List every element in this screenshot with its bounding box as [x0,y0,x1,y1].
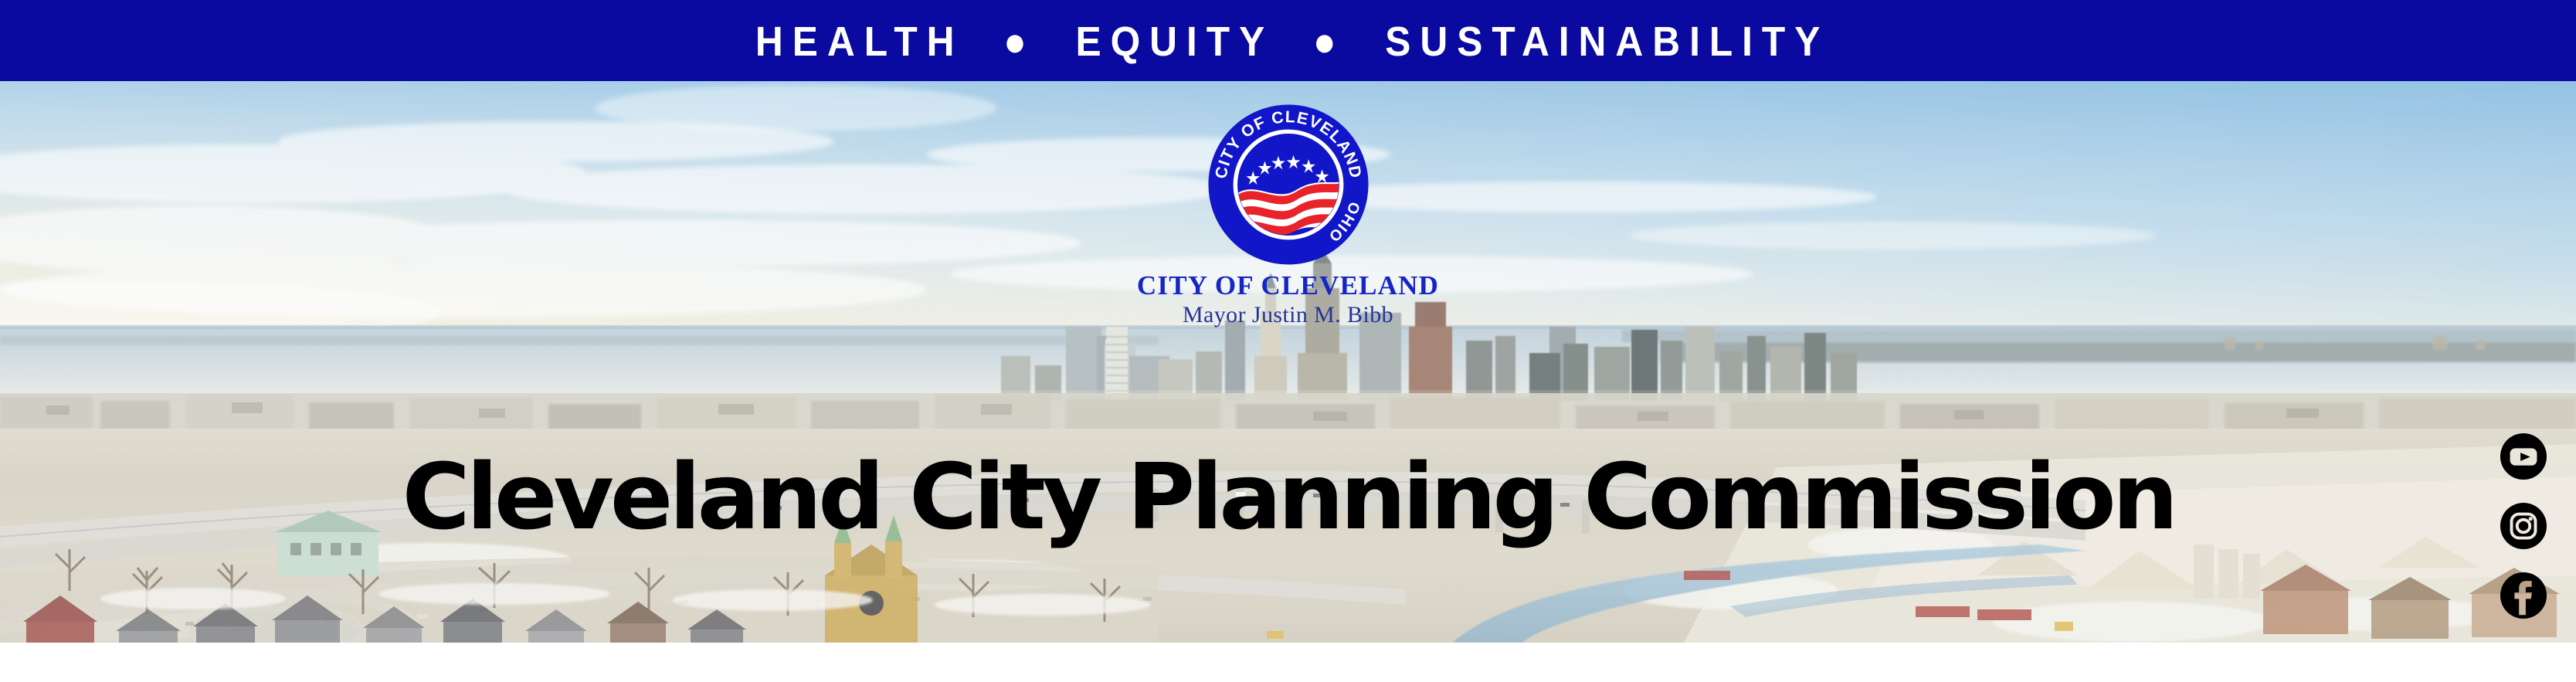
hero-photo [0,81,2576,643]
facebook-icon[interactable] [2500,572,2547,619]
instagram-icon[interactable] [2500,502,2547,550]
social-links [2499,433,2548,619]
page-root: HEALTH ● EQUITY ● SUSTAINABILITY [0,0,2576,682]
tagline-banner: HEALTH ● EQUITY ● SUSTAINABILITY [0,0,2576,81]
tagline-text: HEALTH ● EQUITY ● SUSTAINABILITY [746,21,1829,63]
youtube-icon[interactable] [2500,433,2547,480]
